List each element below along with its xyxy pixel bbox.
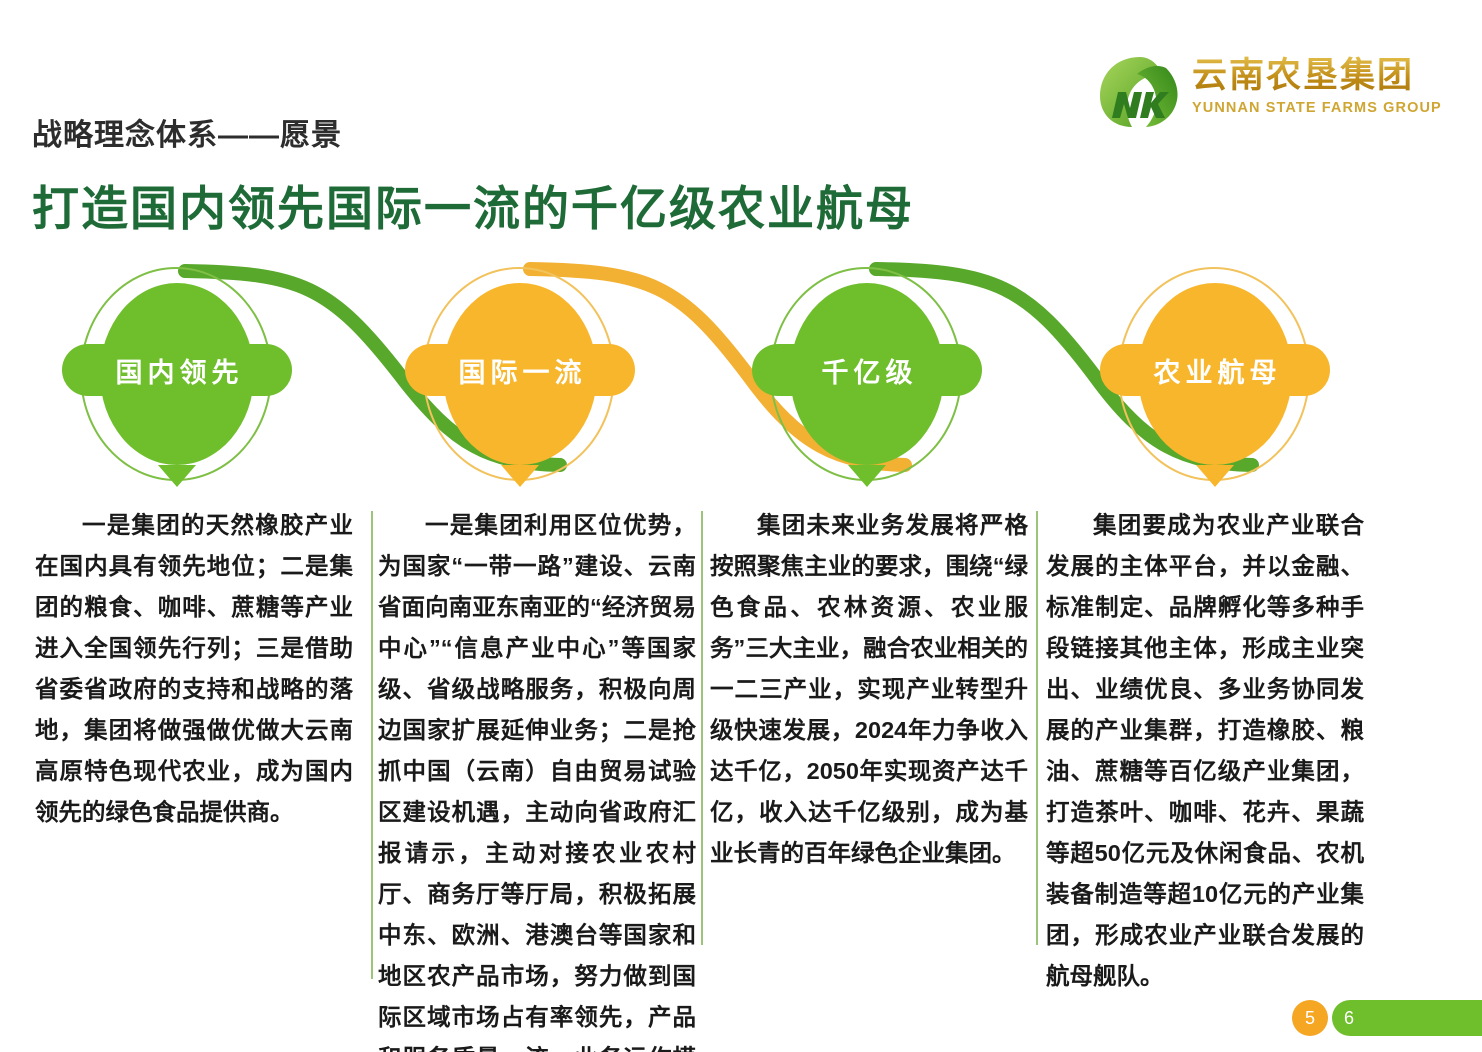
pillar-node-3[interactable]: 千亿级 (752, 265, 982, 485)
column-divider-1 (371, 511, 373, 979)
leaf-nk-monogram-icon (1096, 52, 1184, 132)
vision-column-1: 一是集团的天然橡胶产业在国内具有领先地位；二是集团的粮食、咖啡、蔗糖等产业进入全… (35, 505, 353, 833)
pillar-node-4[interactable]: 农业航母 (1100, 265, 1330, 485)
page-dot: 5 (1292, 1000, 1328, 1036)
pillar-label: 国内领先 (62, 344, 292, 396)
pillar-arrow-icon (848, 465, 886, 487)
vision-column-2: 一是集团利用区位优势，为国家“一带一路”建设、云南省面向南亚东南亚的“经济贸易中… (378, 505, 696, 1052)
brand-logo: 云南农垦集团 YUNNAN STATE FARMS GROUP (1096, 52, 1426, 134)
page-bar: 6 (1332, 1000, 1482, 1036)
pillar-node-2[interactable]: 国际一流 (405, 265, 635, 485)
vision-column-3: 集团未来业务发展将严格按照聚焦主业的要求，围绕“绿色食品、农林资源、农业服务”三… (710, 505, 1028, 874)
pillar-label: 农业航母 (1100, 344, 1330, 396)
vision-column-4: 集团要成为农业产业联合发展的主体平台，并以金融、标准制定、品牌孵化等多种手段链接… (1046, 505, 1364, 997)
brand-name-en: YUNNAN STATE FARMS GROUP (1192, 98, 1424, 118)
vision-pillars-diagram: 国内领先 国际一流 千亿级 农业航母 (0, 255, 1482, 495)
page-number-badge: 5 6 (1292, 1000, 1482, 1036)
column-divider-3 (1036, 511, 1038, 945)
slide-canvas: 云南农垦集团 YUNNAN STATE FARMS GROUP 战略理念体系——… (0, 0, 1482, 1052)
pillar-arrow-icon (501, 465, 539, 487)
vision-detail-columns: 一是集团的天然橡胶产业在国内具有领先地位；二是集团的粮食、咖啡、蔗糖等产业进入全… (0, 505, 1482, 1005)
brand-name-cn: 云南农垦集团 (1192, 54, 1424, 98)
pillar-arrow-icon (1196, 465, 1234, 487)
pillar-label: 千亿级 (752, 344, 982, 396)
column-divider-2 (701, 511, 703, 945)
page-title: 打造国内领先国际一流的千亿级农业航母 (32, 170, 914, 239)
pillar-node-1[interactable]: 国内领先 (62, 265, 292, 485)
pillar-label: 国际一流 (405, 344, 635, 396)
section-eyebrow: 战略理念体系——愿景 (32, 110, 342, 154)
pillar-arrow-icon (158, 465, 196, 487)
